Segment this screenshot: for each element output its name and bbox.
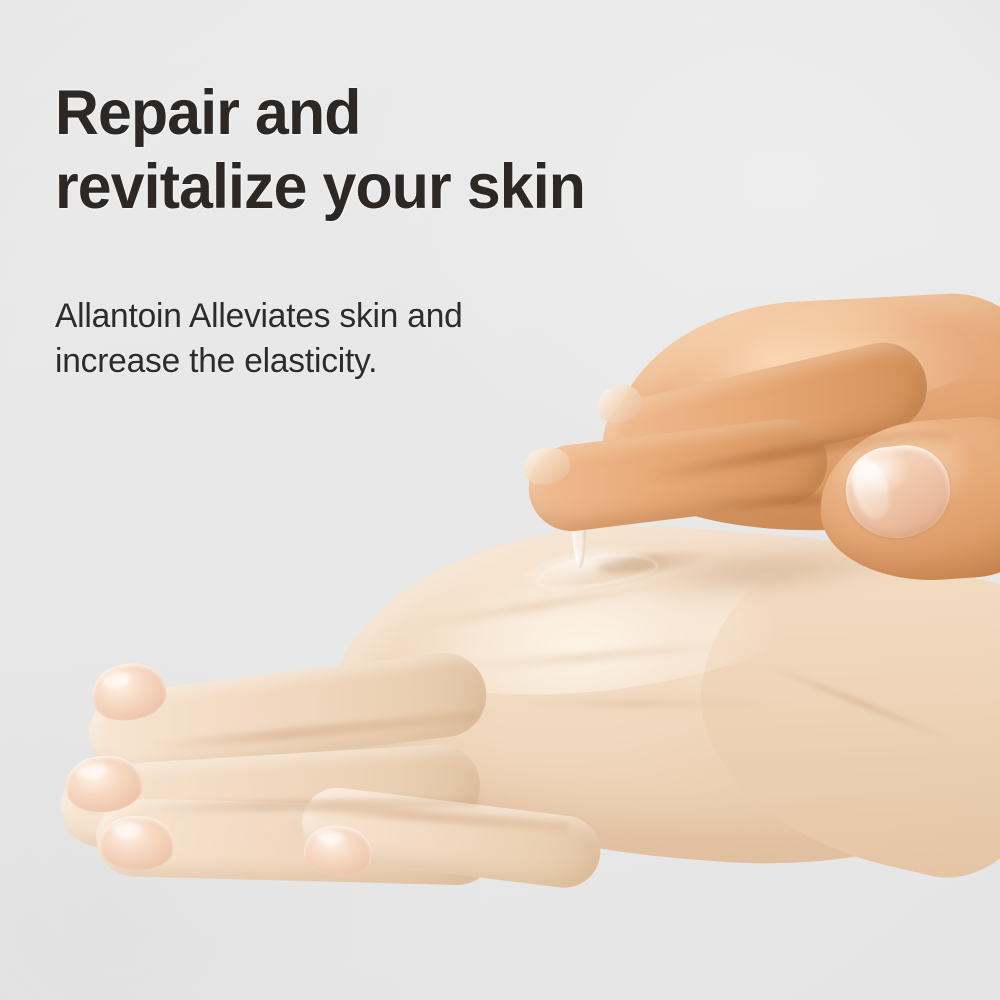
page-title: Repair and revitalize your skin bbox=[55, 76, 731, 224]
product-banner: Repair and revitalize your skin Allantoi… bbox=[0, 0, 1000, 1000]
page-subtitle: Allantoin Alleviates skin and increase t… bbox=[55, 294, 463, 384]
copy-block: Repair and revitalize your skin Allantoi… bbox=[55, 76, 755, 224]
